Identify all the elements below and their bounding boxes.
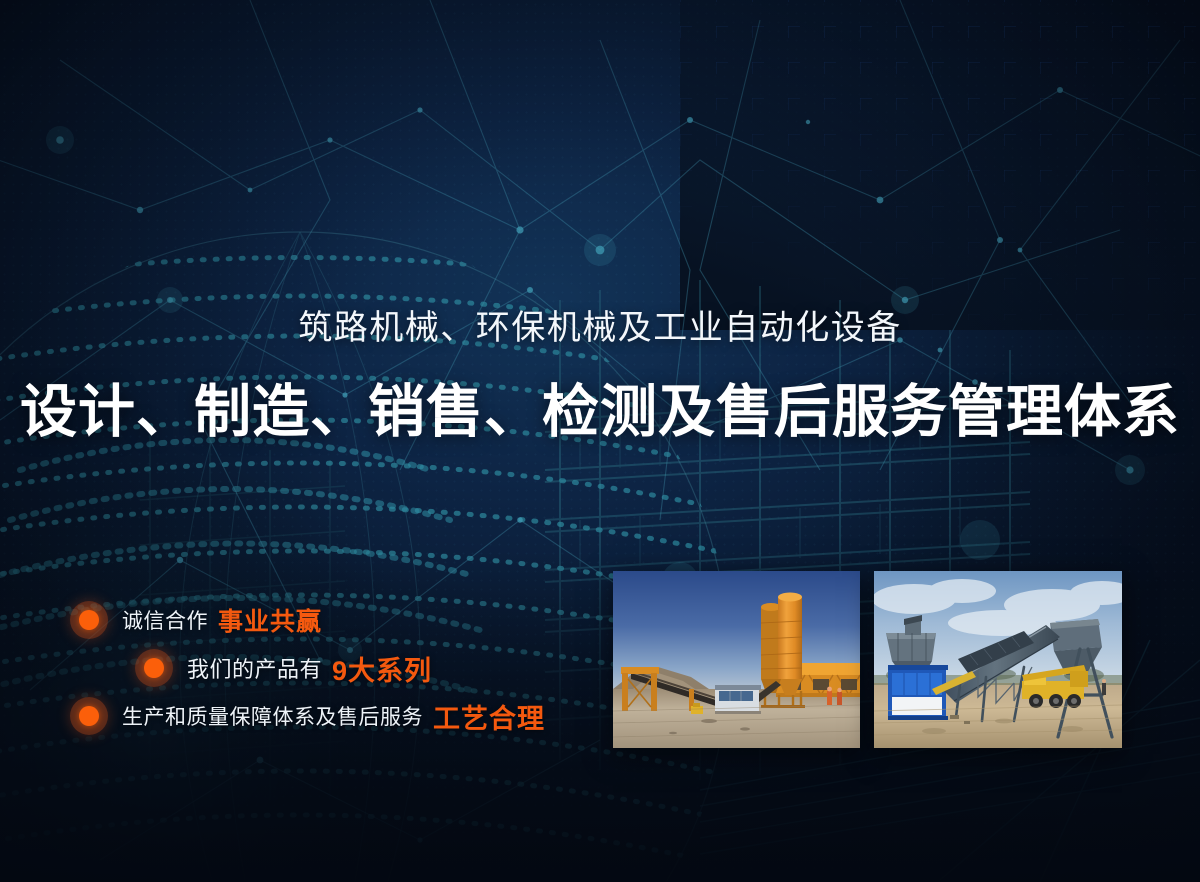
feature-label: 生产和质量保障体系及售后服务	[122, 701, 423, 731]
promo-banner: 筑路机械、环保机械及工业自动化设备 设计、制造、销售、检测及售后服务管理体系 诚…	[0, 0, 1200, 882]
banner-subtitle: 筑路机械、环保机械及工业自动化设备	[0, 300, 1200, 349]
list-item: 生产和质量保障体系及售后服务 工艺合理	[70, 692, 590, 740]
feature-highlight: 9大系列	[332, 649, 432, 688]
concrete-batching-plant-photo	[613, 571, 860, 748]
feature-label: 诚信合作	[122, 605, 208, 635]
list-item: 诚信合作 事业共赢	[70, 596, 590, 644]
orange-dot-icon	[135, 649, 173, 687]
banner-headline: 设计、制造、销售、检测及售后服务管理体系	[0, 366, 1200, 448]
feature-highlight: 事业共赢	[218, 602, 322, 638]
orange-dot-icon	[70, 697, 108, 735]
mobile-mixing-plant-photo	[874, 571, 1122, 748]
feature-list: 诚信合作 事业共赢 我们的产品有 9大系列 生产和质量保障体系及售后服务 工艺合…	[70, 596, 590, 740]
list-item: 我们的产品有 9大系列	[135, 644, 590, 692]
orange-dot-icon	[70, 601, 108, 639]
feature-label: 我们的产品有	[187, 652, 322, 684]
feature-highlight: 工艺合理	[433, 697, 545, 736]
